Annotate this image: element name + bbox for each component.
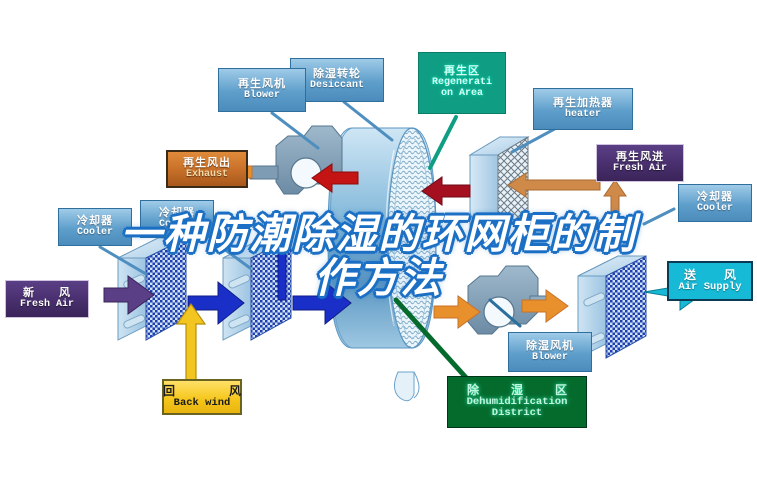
label-cooler-1-en: Cooler — [77, 228, 113, 239]
label-dehum-blower-cn: 除湿风机 — [526, 341, 574, 353]
label-cooler-3: 冷却器 Cooler — [678, 184, 752, 222]
label-cooler-3-en: Cooler — [697, 204, 733, 215]
label-dehumidification-district: 除 湿 区 Dehumidification District — [447, 376, 587, 428]
label-regeneration-area-en2: on Area — [441, 89, 483, 100]
label-air-supply: 送 风 Air Supply — [667, 261, 753, 301]
label-cooler-3-cn: 冷却器 — [697, 192, 733, 204]
arrow-regen-freshair-up — [604, 180, 626, 230]
label-regen-heater-en: heater — [565, 110, 601, 121]
label-air-supply-cn: 送 风 — [676, 269, 744, 282]
label-regen-fresh-air-en: Fresh Air — [613, 164, 667, 175]
label-regen-blower: 再生风机 Blower — [218, 68, 306, 112]
label-dehum-blower: 除湿风机 Blower — [508, 332, 592, 372]
label-back-wind: 回 风 Back wind — [162, 379, 242, 415]
label-air-supply-en: Air Supply — [678, 282, 741, 293]
label-back-wind-cn: 回 风 — [153, 385, 251, 398]
label-dehum-blower-en: Blower — [532, 353, 568, 364]
label-regen-fresh-air-cn: 再生风进 — [616, 152, 664, 164]
label-exhaust-en: Exhaust — [186, 170, 228, 181]
label-cooler-1: 冷却器 Cooler — [58, 208, 132, 246]
label-exhaust-cn: 再生风出 — [183, 158, 231, 170]
label-fresh-air-en: Fresh Air — [20, 300, 74, 311]
label-exhaust: 再生风出 Exhaust — [166, 150, 248, 188]
label-regen-blower-cn: 再生风机 — [238, 79, 286, 91]
diagram-canvas: XT 除湿转轮 Desiccant 再生风机 Blower 再生区 Regene… — [0, 0, 757, 488]
label-cooler-2-cn: 冷却器 — [159, 208, 195, 220]
label-fresh-air: 新 风 Fresh Air — [5, 280, 89, 318]
label-regen-fresh-air: 再生风进 Fresh Air — [596, 144, 684, 182]
label-desiccant-wheel-en: Desiccant — [310, 81, 364, 92]
desiccant-wheel — [328, 128, 436, 401]
label-regen-heater: 再生加热器 heater — [533, 88, 633, 130]
label-cooler-2-en: Cooler — [159, 220, 195, 231]
label-desiccant-wheel-cn: 除湿转轮 — [313, 69, 361, 81]
label-fresh-air-cn: 新 风 — [23, 288, 71, 300]
arrow-regen-freshair-to-heater — [508, 173, 600, 197]
label-regen-blower-en: Blower — [244, 91, 280, 102]
label-cooler-2: 冷却器 Cooler — [140, 200, 214, 238]
label-dehumidification-district-en2: District — [492, 408, 542, 419]
label-back-wind-en: Back wind — [174, 398, 231, 409]
label-regen-heater-cn: 再生加热器 — [553, 98, 613, 110]
watermark-text: XT — [382, 319, 398, 334]
label-cooler-1-cn: 冷却器 — [77, 216, 113, 228]
label-regeneration-area: 再生区 Regenerati on Area — [418, 52, 506, 114]
